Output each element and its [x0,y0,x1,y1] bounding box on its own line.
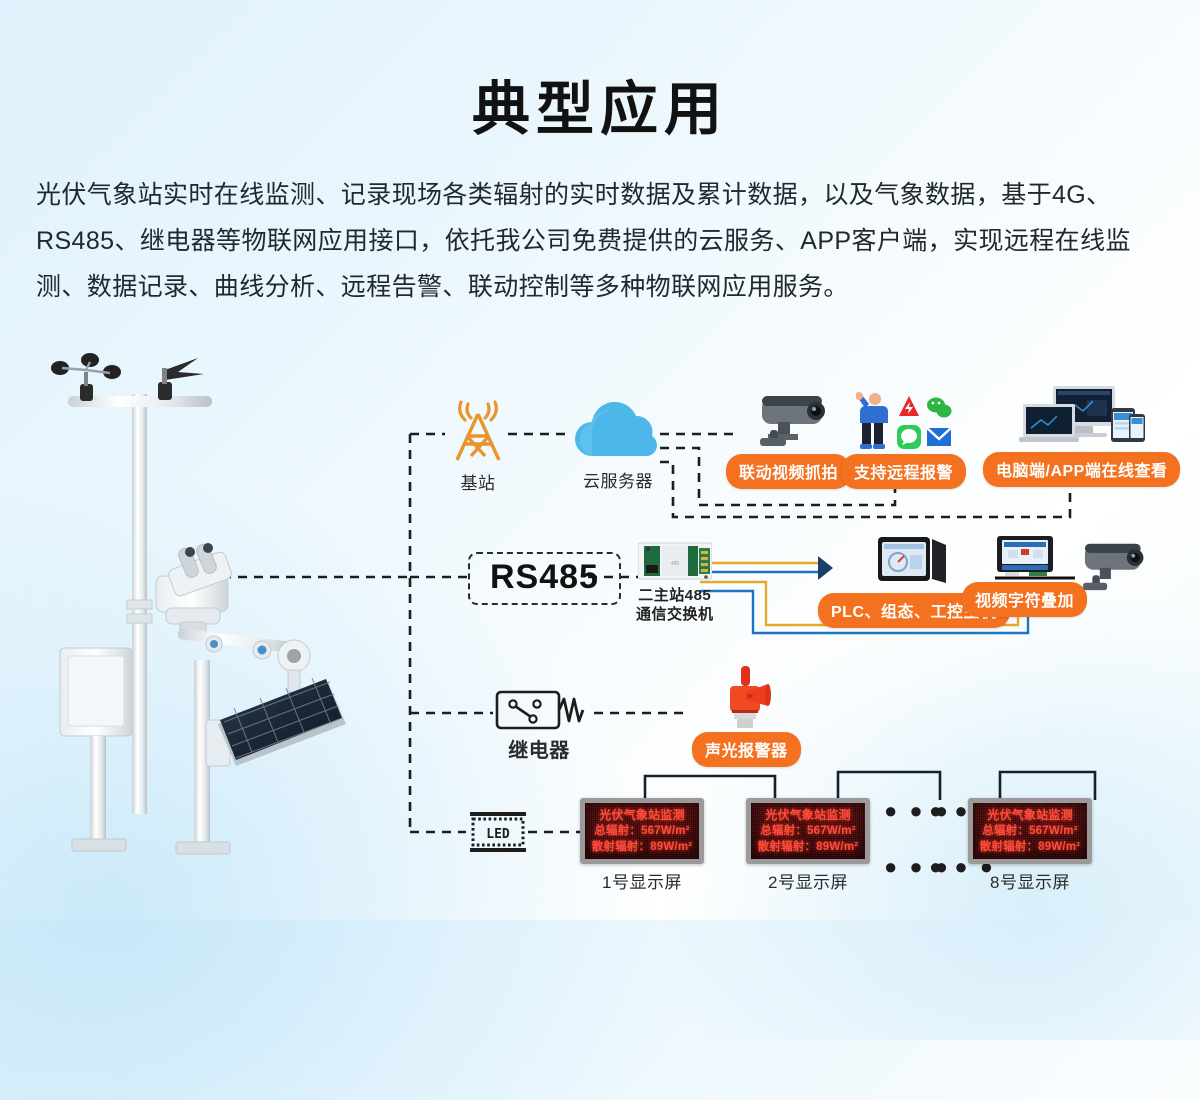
rs485-label: RS485 [468,552,621,605]
remote-alarm-icon [841,392,966,450]
led-icon: LED [466,810,530,854]
led-title: 光伏气象站监测 [599,807,684,823]
rs485-switch-label-2: 通信交换机 [636,605,714,624]
svg-text:LED: LED [486,827,510,842]
badge-video-capture[interactable]: 联动视频抓拍 [726,454,851,489]
relay-icon [493,688,585,734]
remote-alarm-node: 支持远程报警 [841,392,966,489]
multi-device-node: 电脑端/APP端在线查看 [983,386,1180,487]
led-title: 光伏气象站监测 [765,807,850,823]
led-screen-8-caption: 8号显示屏 [968,872,1092,893]
industrial-hmi-icon [876,535,952,589]
rs485-switch-icon: 485 [638,541,712,581]
base-station-node: 基站 [445,400,511,494]
led-screen-8: 光伏气象站监测 总辐射：567W/m² 散射辐射：89W/m² 8号显示屏 [968,798,1092,893]
led-panel: 光伏气象站监测 总辐射：567W/m² 散射辐射：89W/m² [968,798,1092,864]
led-total-radiation: 总辐射：567W/m² [982,823,1078,839]
led-screen-1: 光伏气象站监测 总辐射：567W/m² 散射辐射：89W/m² 1号显示屏 [580,798,704,893]
weather-station-illustration [28,352,348,892]
led-screen-2: 光伏气象站监测 总辐射：567W/m² 散射辐射：89W/m² 2号显示屏 [746,798,870,893]
led-bus-node: LED [466,810,530,859]
relay-node: 继电器 [493,688,585,762]
rs485-switch-node: 485 二主站485 通信交换机 [636,541,714,624]
base-station-icon [445,400,511,464]
multi-device-icon [1017,386,1147,448]
badge-remote-alarm[interactable]: 支持远程报警 [841,454,966,489]
intro-paragraph: 光伏气象站实时在线监测、记录现场各类辐射的实时数据及累计数据，以及气象数据，基于… [36,172,1164,310]
video-capture-node: 联动视频抓拍 [726,392,851,489]
rs485-switch-label-1: 二主站485 [636,586,714,605]
cctv-camera-icon [746,392,832,448]
led-title: 光伏气象站监测 [987,807,1072,823]
siren-node: 声光报警器 [692,666,801,767]
cloud-icon [566,400,670,462]
badge-siren[interactable]: 声光报警器 [692,732,801,767]
led-total-radiation: 总辐射：567W/m² [760,823,856,839]
base-station-label: 基站 [445,473,511,494]
page-title: 典型应用 [0,62,1200,146]
video-osd-icon [995,534,1055,578]
led-diffuse-radiation: 散射辐射：89W/m² [758,839,859,855]
led-panel: 光伏气象站监测 总辐射：567W/m² 散射辐射：89W/m² [580,798,704,864]
led-screen-2-caption: 2号显示屏 [746,872,870,893]
cloud-server-node: 云服务器 [566,400,670,492]
osd-camera-node [1068,540,1152,597]
led-total-radiation: 总辐射：567W/m² [594,823,690,839]
cctv-camera-icon [1068,540,1152,592]
badge-multi-device[interactable]: 电脑端/APP端在线查看 [983,452,1180,487]
svg-text:485: 485 [671,561,680,567]
led-diffuse-radiation: 散射辐射：89W/m² [980,839,1081,855]
led-panel: 光伏气象站监测 总辐射：567W/m² 散射辐射：89W/m² [746,798,870,864]
cloud-server-label: 云服务器 [566,471,670,492]
led-diffuse-radiation: 散射辐射：89W/m² [592,839,693,855]
relay-label: 继电器 [493,741,585,762]
siren-icon [720,666,772,728]
rs485-bus-node: RS485 [468,552,621,605]
led-screen-1-caption: 1号显示屏 [580,872,704,893]
